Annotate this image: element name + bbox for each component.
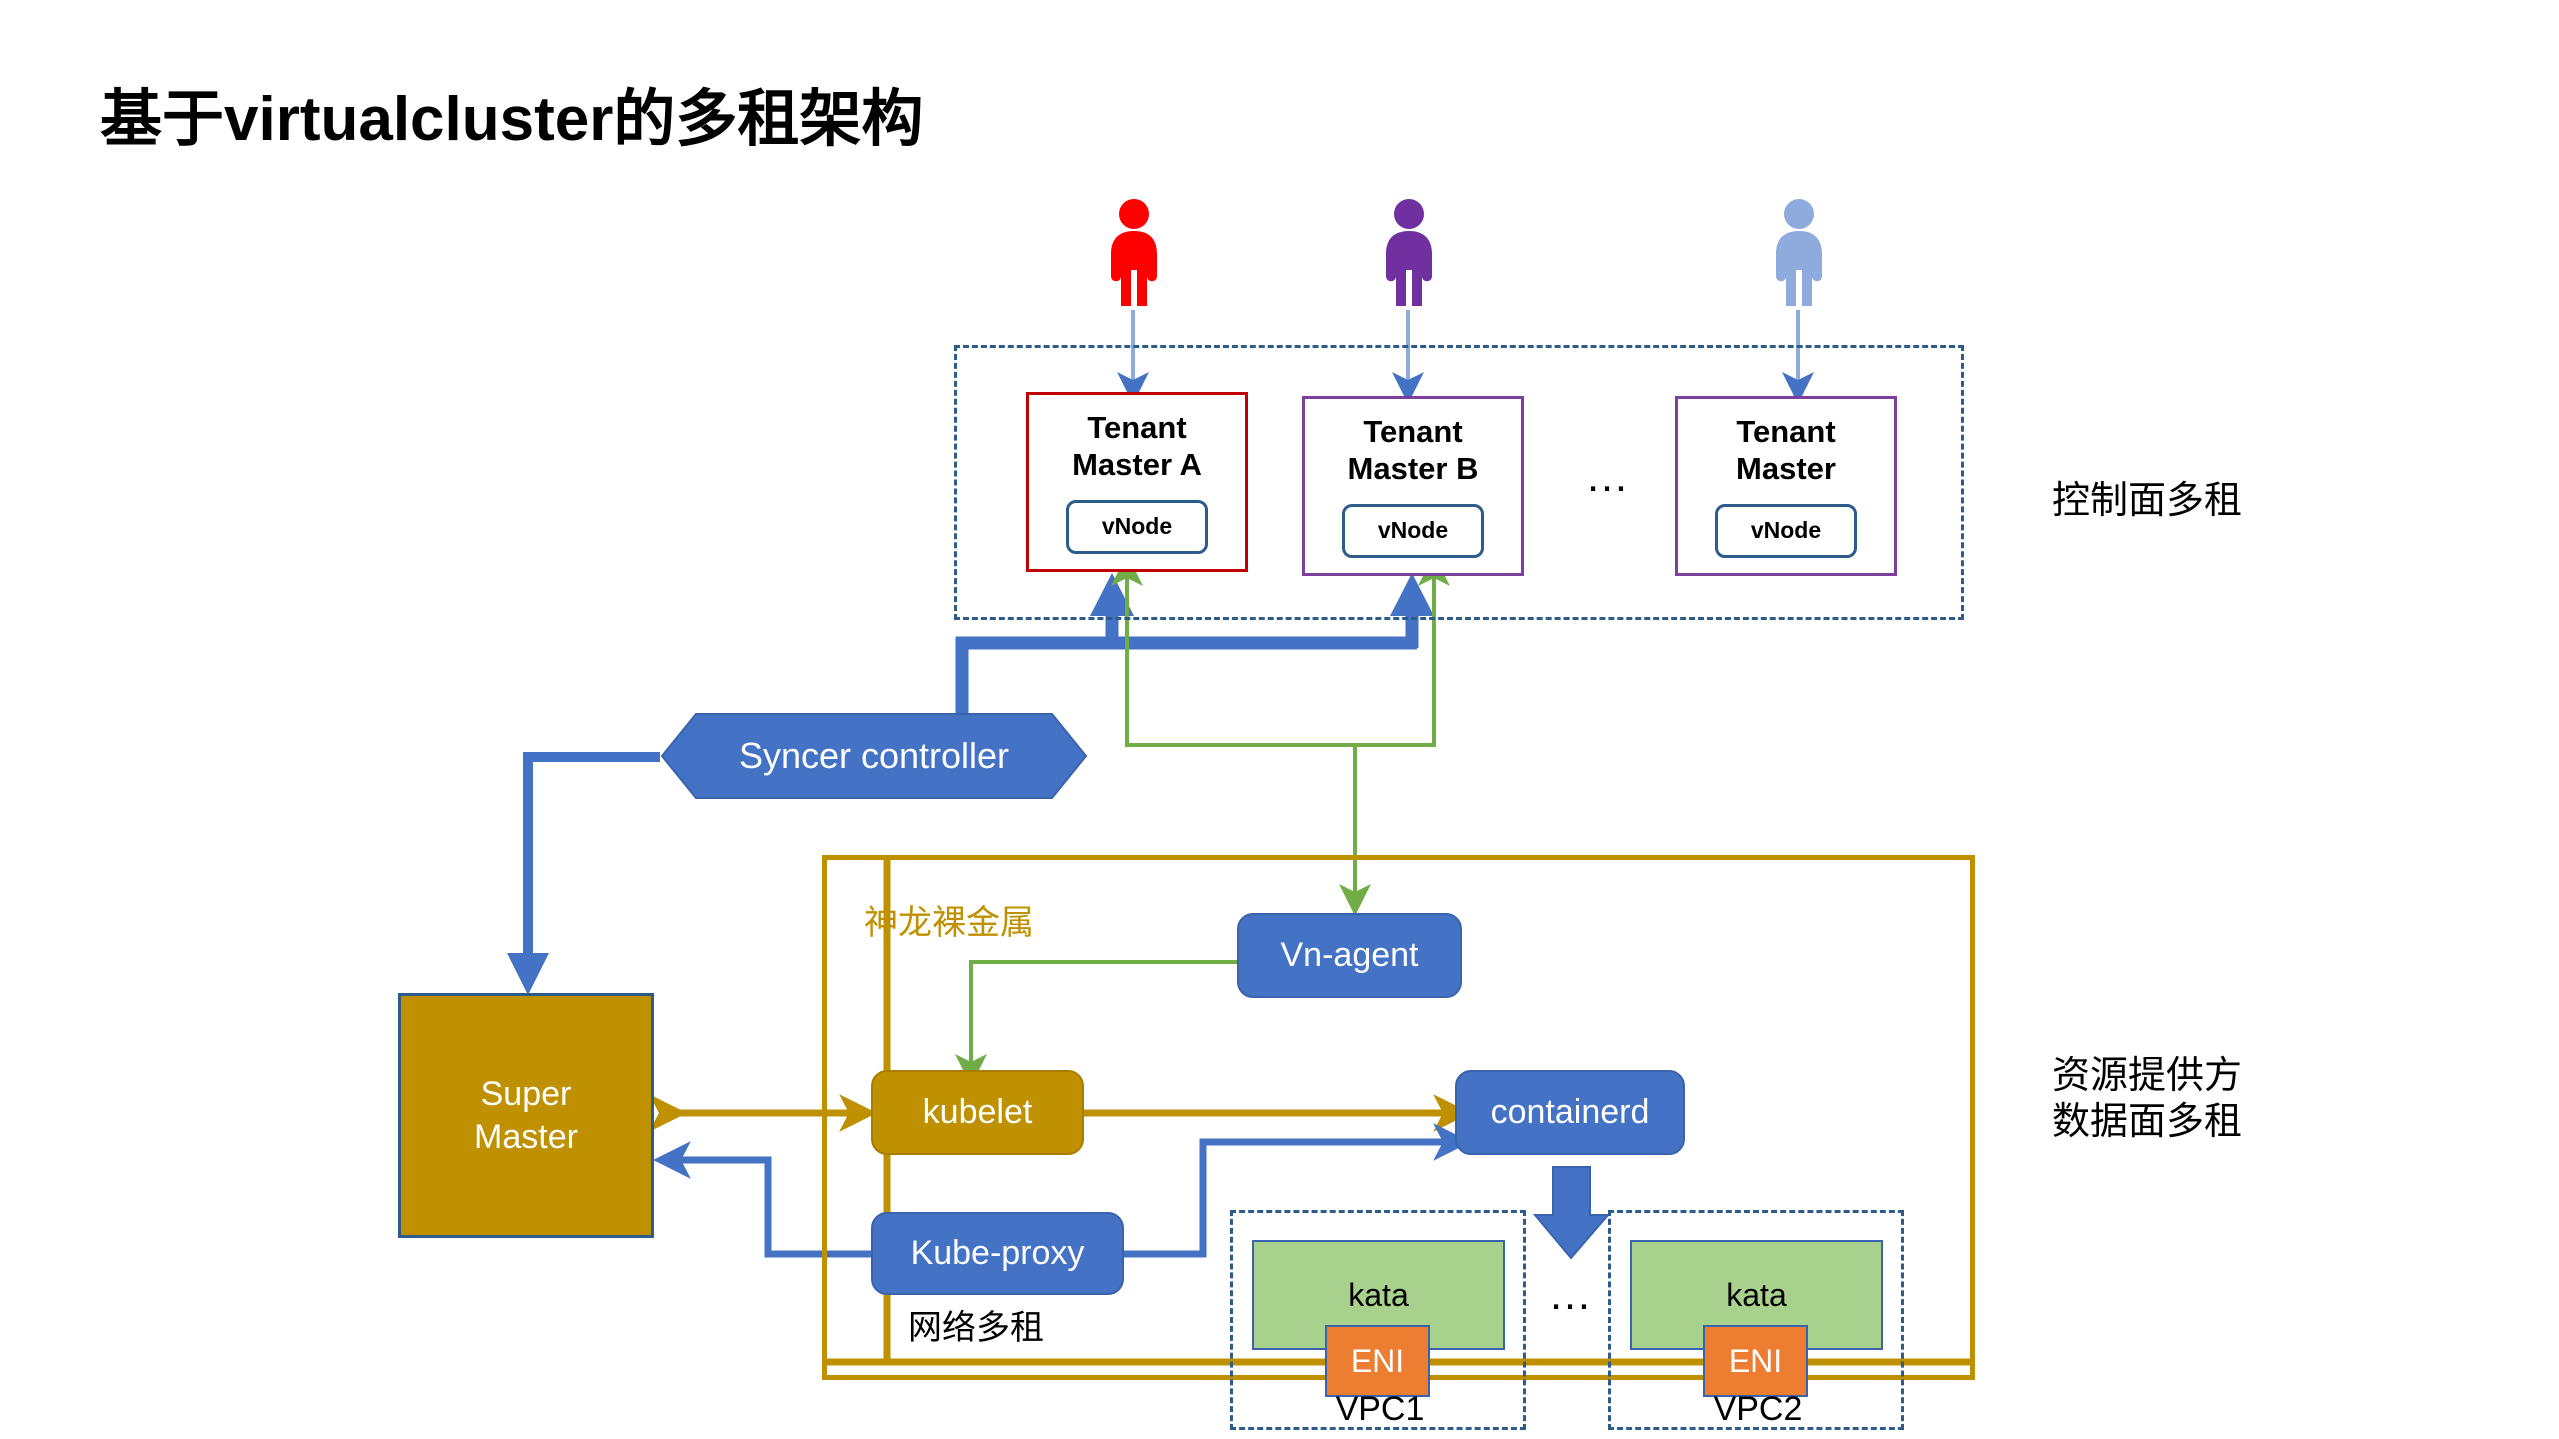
control-plane-side-label: 控制面多租 (2052, 478, 2242, 524)
bare-metal-label: 神龙裸金属 (864, 895, 1034, 944)
connector-syncer-to-supermaster (528, 757, 660, 975)
tenant-master-n-title: Tenant Master (1736, 414, 1836, 487)
tenant-master-b-box[interactable]: Tenant Master B vNode (1302, 396, 1524, 576)
tenant-master-n-vnode[interactable]: vNode (1715, 504, 1857, 558)
tenant-master-b-vnode[interactable]: vNode (1342, 504, 1484, 558)
syncer-controller-label: Syncer controller (739, 735, 1009, 777)
page-title: 基于virtualcluster的多租架构 (100, 68, 923, 158)
tenant-master-n-box[interactable]: Tenant Master vNode (1675, 396, 1897, 576)
vn-agent-node[interactable]: Vn-agent (1237, 913, 1462, 998)
tenant-list-ellipsis: … (1585, 452, 1633, 502)
vpc1-eni-box[interactable]: ENI (1325, 1325, 1430, 1397)
super-master-node[interactable]: Super Master (398, 993, 654, 1238)
vpc-list-ellipsis: … (1548, 1270, 1596, 1320)
tenant-master-a-title: Tenant Master A (1072, 410, 1202, 483)
vpc1-label: VPC1 (1305, 1390, 1455, 1429)
tenant-b-user-icon (1373, 198, 1445, 308)
arrowhead-supermaster-down (507, 953, 549, 995)
kubelet-node[interactable]: kubelet (871, 1070, 1084, 1155)
tenant-master-a-vnode[interactable]: vNode (1066, 500, 1208, 554)
vpc2-label: VPC2 (1683, 1390, 1833, 1429)
kube-proxy-node[interactable]: Kube-proxy (871, 1212, 1124, 1295)
containerd-node[interactable]: containerd (1455, 1070, 1685, 1155)
vpc2-eni-box[interactable]: ENI (1703, 1325, 1808, 1397)
data-plane-side-label: 资源提供方 数据面多租 (2052, 1053, 2242, 1146)
tenant-n-user-icon (1763, 198, 1835, 308)
tenant-master-b-title: Tenant Master B (1348, 414, 1479, 487)
network-multitenancy-label: 网络多租 (908, 1300, 1044, 1349)
syncer-controller-node[interactable]: Syncer controller (660, 712, 1088, 800)
tenant-master-a-box[interactable]: Tenant Master A vNode (1026, 392, 1248, 572)
tenant-a-user-icon (1098, 198, 1170, 308)
